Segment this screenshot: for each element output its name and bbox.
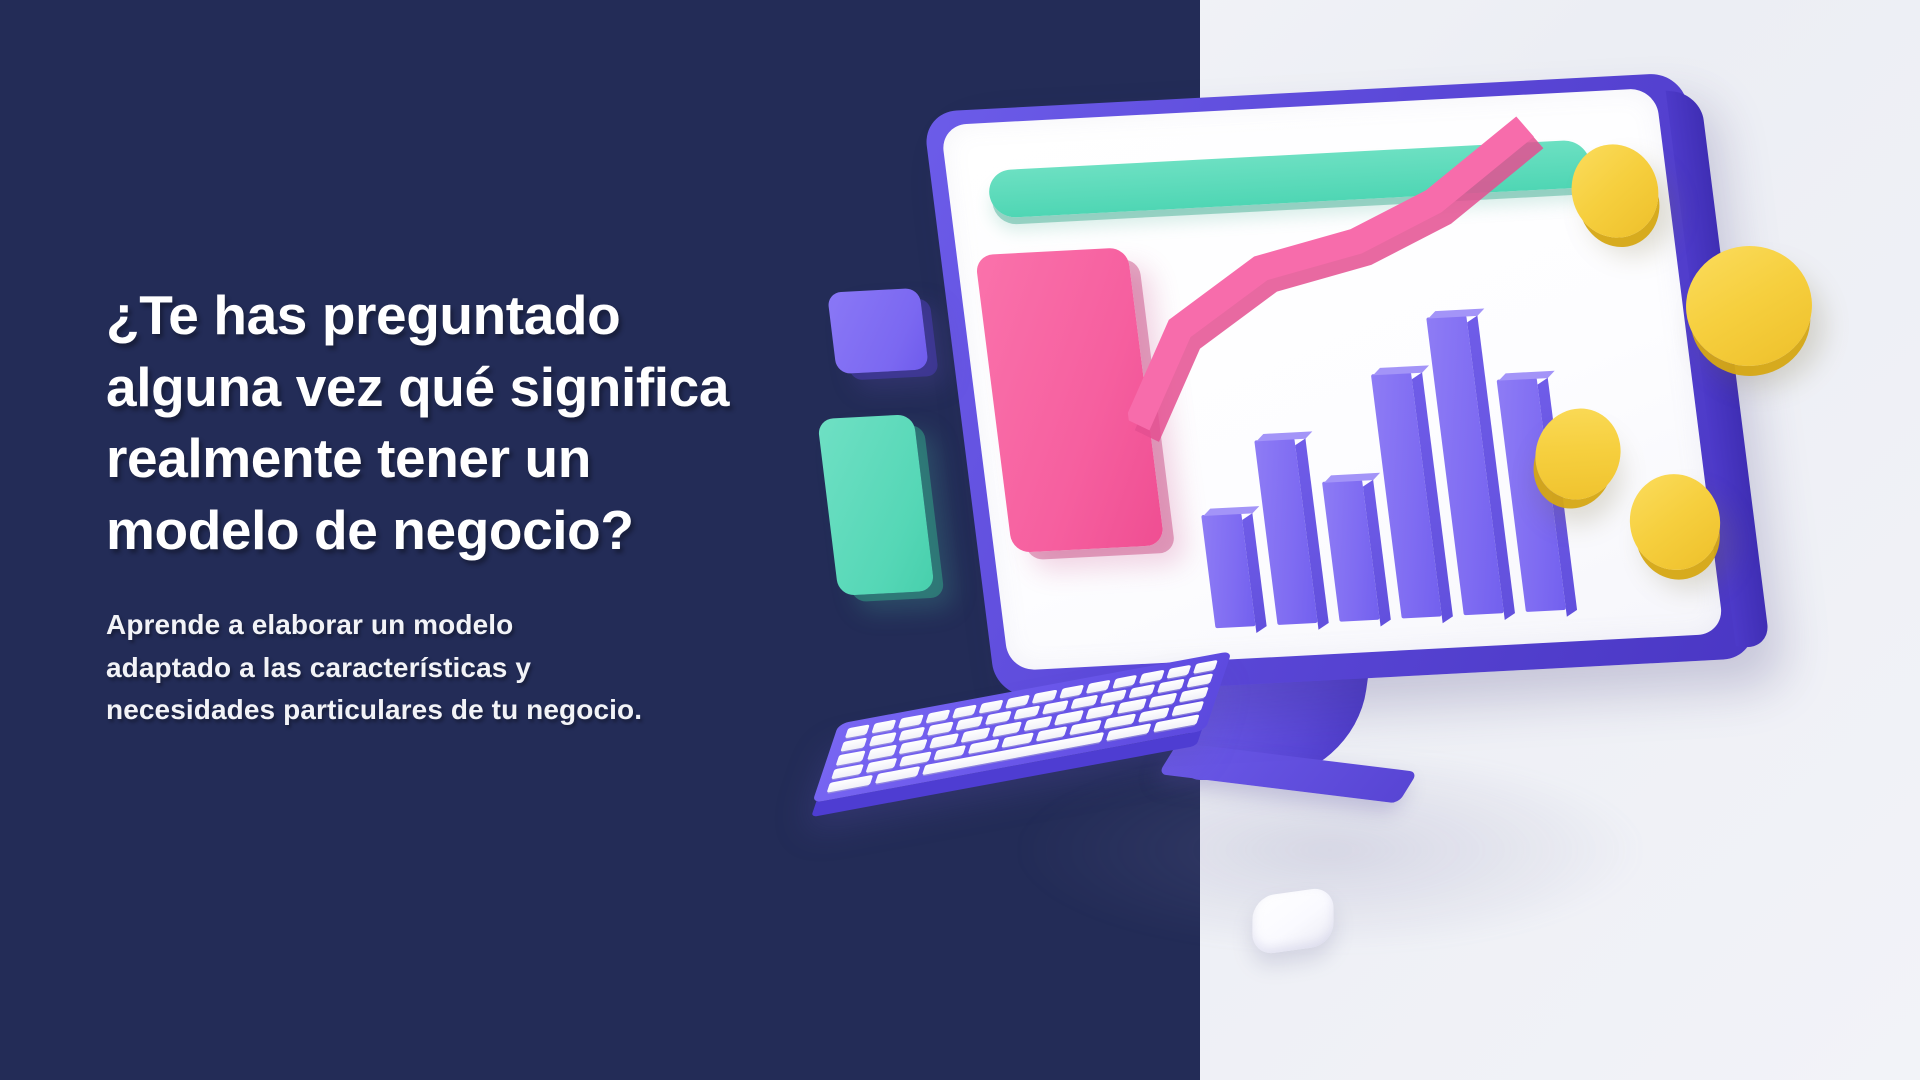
- hero-subtitle: Aprende a elaborar un modelo adaptado a …: [106, 604, 886, 732]
- computer-illustration: [980, 60, 1920, 1060]
- hero-banner: ¿Te has preguntado alguna vez qué signif…: [0, 0, 1920, 1080]
- chart-bar: [1322, 480, 1380, 622]
- chart-bar: [1254, 438, 1317, 625]
- chart-bar: [1201, 513, 1255, 628]
- page-title: ¿Te has preguntado alguna vez qué signif…: [106, 280, 886, 566]
- hero-copy: ¿Te has preguntado alguna vez qué signif…: [106, 280, 886, 732]
